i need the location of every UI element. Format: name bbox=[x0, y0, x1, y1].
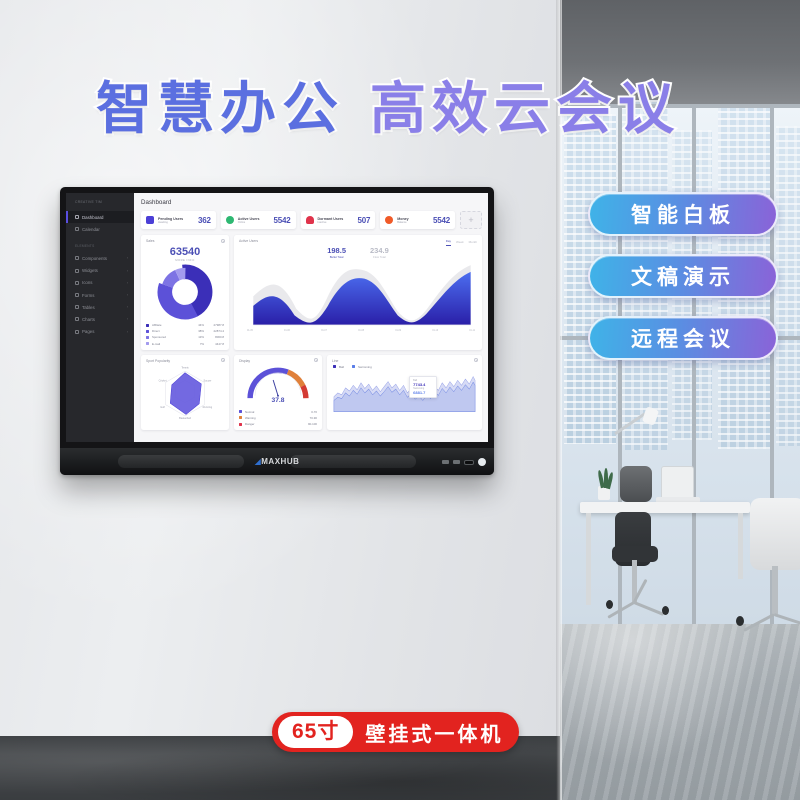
desk-leg bbox=[738, 513, 743, 579]
feature-pill-whiteboard[interactable]: 智能白板 bbox=[588, 192, 778, 236]
tab-month[interactable]: Month bbox=[469, 240, 477, 246]
range-tabs: Day Week Month bbox=[446, 239, 477, 246]
sales-donut-card: Sales 63540 MORE INFO bbox=[141, 235, 229, 350]
leaf-icon bbox=[226, 216, 234, 224]
legend-swatch bbox=[146, 336, 149, 339]
legend-label: Normal bbox=[245, 410, 297, 414]
chevron-right-icon: › bbox=[127, 256, 128, 260]
legend-label: E-mail bbox=[152, 342, 192, 346]
chevron-right-icon: › bbox=[127, 281, 128, 285]
sidebar-item-label: Tables bbox=[82, 305, 95, 310]
radar-axis-label: Soccer bbox=[203, 379, 211, 382]
radar-chart: Tennis Soccer Running Basketball Golf Cr… bbox=[146, 363, 224, 419]
radar-axis-label: Tennis bbox=[181, 366, 189, 369]
chevron-right-icon: › bbox=[127, 305, 128, 309]
legend-range: 70-90 bbox=[297, 416, 317, 420]
legend-percent: 44% bbox=[192, 323, 204, 327]
stat-card-active-users[interactable]: Active Users Online 5542 bbox=[221, 211, 296, 229]
stat-sublabel: Online bbox=[238, 221, 274, 224]
page-icon bbox=[75, 330, 79, 334]
stat-value: 5542 bbox=[274, 216, 291, 225]
laptop-lid bbox=[661, 466, 694, 499]
tooltip-value: 6881.7 bbox=[413, 390, 433, 395]
chevron-right-icon: › bbox=[127, 330, 128, 334]
legend-amount: 22874.4 bbox=[204, 329, 224, 333]
sidebar-item-label: Charts bbox=[82, 317, 95, 322]
table-icon bbox=[75, 305, 79, 309]
sidebar-item-widgets[interactable]: Widgets › bbox=[66, 265, 134, 277]
widget-icon bbox=[75, 269, 79, 273]
bullet-total: 198.5 Bullet Total bbox=[327, 247, 346, 259]
sidebar-item-pages[interactable]: Pages › bbox=[66, 326, 134, 338]
legend-item-swimming: Swimming bbox=[352, 365, 372, 369]
legend-label: Affiliate bbox=[152, 323, 192, 327]
add-card-button[interactable]: + bbox=[460, 211, 482, 229]
legend-label: Direct bbox=[152, 329, 192, 333]
legend-percent: 38% bbox=[192, 329, 204, 333]
stat-value: 507 bbox=[358, 216, 371, 225]
sidebar-item-label: Dashboard bbox=[82, 215, 103, 220]
donut-chart-svg bbox=[157, 264, 213, 320]
sales-more-info-label: MORE INFO bbox=[146, 258, 224, 262]
legend-amount: 4447.8 bbox=[204, 342, 224, 346]
card-title: Sales bbox=[146, 239, 224, 243]
interactive-display-device: CREATIVE TIM Dashboard Calendar ELEMENTS… bbox=[60, 187, 494, 475]
legend-swatch bbox=[239, 416, 242, 419]
sales-total-value: 63540 bbox=[146, 246, 224, 258]
chair-back-far bbox=[620, 466, 652, 502]
feature-pill-label: 文稿演示 bbox=[631, 261, 735, 291]
total-value: 198.5 bbox=[327, 247, 346, 255]
x-tick: 01-08 bbox=[358, 330, 364, 332]
x-tick: 01-10 bbox=[432, 330, 438, 332]
tab-day[interactable]: Day bbox=[446, 239, 451, 246]
legend-swatch bbox=[146, 342, 149, 345]
sidebar-item-components[interactable]: Components › bbox=[66, 252, 134, 264]
legend-row: E-mail 7% 4447.8 bbox=[146, 342, 224, 346]
legend-swatch bbox=[239, 410, 242, 413]
gear-icon[interactable] bbox=[221, 358, 225, 362]
sport-popularity-card: Sport Popularity Tennis Soccer Running B… bbox=[141, 355, 229, 431]
legend-swatch bbox=[146, 330, 149, 333]
active-users-area-card: Active Users Day Week Month 198.5 Bullet… bbox=[234, 235, 482, 350]
x-tick: 01-11 bbox=[469, 330, 475, 332]
chair-back-white bbox=[750, 498, 800, 570]
sidebar-item-label: Forms bbox=[82, 293, 94, 298]
chevron-right-icon: › bbox=[127, 317, 128, 321]
gauge-card: Display 37.8 No bbox=[234, 355, 322, 431]
legend-row: Direct 38% 22874.4 bbox=[146, 329, 224, 333]
sidebar-item-tables[interactable]: Tables › bbox=[66, 301, 134, 313]
users-icon bbox=[146, 216, 154, 224]
star-icon bbox=[75, 281, 79, 285]
dashboard-sidebar: CREATIVE TIM Dashboard Calendar ELEMENTS… bbox=[66, 193, 134, 442]
x-tick: 01-07 bbox=[321, 330, 327, 332]
heart-icon bbox=[306, 216, 314, 224]
radar-axis-label: Running bbox=[203, 405, 213, 408]
calendar-icon bbox=[75, 227, 79, 231]
legend-range: 0-70 bbox=[297, 410, 317, 414]
sidebar-logo: CREATIVE TIM bbox=[66, 200, 134, 211]
gauge-chart: 37.8 bbox=[239, 363, 317, 403]
gear-icon[interactable] bbox=[314, 358, 318, 362]
sidebar-item-icons[interactable]: Icons › bbox=[66, 277, 134, 289]
legend-swatch bbox=[239, 423, 242, 426]
speaker-grille-right bbox=[290, 455, 416, 468]
legend-swatch bbox=[352, 365, 355, 368]
sidebar-item-label: Icons bbox=[82, 280, 93, 285]
speaker-grille-left bbox=[118, 455, 244, 468]
legend-row: Sponsored 13% 8060.8 bbox=[146, 335, 224, 339]
legend-label: Warning bbox=[245, 416, 297, 420]
legend-percent: 13% bbox=[192, 335, 204, 339]
x-tick: 01-05 bbox=[247, 330, 253, 332]
form-icon bbox=[75, 293, 79, 297]
sidebar-item-charts[interactable]: Charts › bbox=[66, 313, 134, 325]
chair-post-white bbox=[772, 566, 778, 614]
stat-value: 362 bbox=[198, 216, 211, 225]
feature-pill-label: 远程会议 bbox=[631, 323, 735, 353]
x-tick: 01-09 bbox=[395, 330, 401, 332]
dashboard-content: Dashboard Pending Users Awaiting 362 bbox=[134, 193, 488, 442]
sidebar-item-label: Widgets bbox=[82, 268, 98, 273]
legend-row: Danger 90-100 bbox=[239, 422, 317, 426]
badge-size-label: 65寸 bbox=[278, 716, 353, 747]
headline-part-2: 高效云会议 bbox=[370, 77, 680, 140]
chevron-right-icon: › bbox=[127, 293, 128, 297]
device-brand-logo: ◢MAXHUB bbox=[255, 457, 300, 466]
grid-icon bbox=[75, 256, 79, 260]
home-icon bbox=[75, 215, 79, 219]
radar-axis-label: Cricket bbox=[159, 379, 167, 382]
area-x-axis: 01-05 01-06 01-07 01-08 01-09 01-10 01-1… bbox=[239, 329, 477, 332]
chart-row-bottom: Sport Popularity Tennis Soccer Running B… bbox=[141, 355, 482, 431]
card-title: Active Users bbox=[239, 239, 258, 243]
sidebar-item-label: Components bbox=[82, 256, 107, 261]
gear-icon[interactable] bbox=[474, 358, 478, 362]
office-floor bbox=[560, 624, 800, 800]
line-area-chart bbox=[332, 369, 477, 413]
desk-leg bbox=[586, 513, 591, 605]
chair-caster bbox=[606, 600, 613, 609]
tab-week[interactable]: Week bbox=[456, 240, 464, 246]
legend-row: Affiliate 44% 27987.8 bbox=[146, 323, 224, 327]
device-controls bbox=[442, 458, 486, 466]
legend-swatch bbox=[146, 324, 149, 327]
coin-icon bbox=[385, 216, 393, 224]
chair-caster bbox=[662, 606, 669, 615]
device-bottom-bezel: ◢MAXHUB bbox=[60, 448, 494, 475]
headline-part-1: 智慧办公 bbox=[96, 77, 344, 140]
legend-amount: 8060.8 bbox=[204, 335, 224, 339]
legend-row: Normal 0-70 bbox=[239, 410, 317, 414]
screen: CREATIVE TIM Dashboard Calendar ELEMENTS… bbox=[66, 193, 488, 442]
totals-row: 198.5 Bullet Total 234.9 Flow Total bbox=[239, 247, 477, 259]
legend-percent: 7% bbox=[192, 342, 204, 346]
x-tick: 01-06 bbox=[284, 330, 290, 332]
line-chart-card: Line Ball Swimming bbox=[327, 355, 482, 431]
stat-value: 5542 bbox=[433, 216, 450, 225]
legend-label: Danger bbox=[245, 422, 297, 426]
sidebar-item-label: Calendar bbox=[82, 227, 100, 232]
desk-top bbox=[580, 502, 750, 513]
sidebar-item-dashboard[interactable]: Dashboard bbox=[66, 211, 134, 223]
chart-icon bbox=[75, 317, 79, 321]
product-spec-badge: 65寸 壁挂式一体机 bbox=[272, 712, 519, 752]
feature-pill-label: 智能白板 bbox=[631, 199, 735, 229]
power-button[interactable] bbox=[478, 458, 486, 466]
radar-axis-label: Basketball bbox=[179, 417, 191, 419]
gear-icon[interactable] bbox=[221, 239, 225, 243]
poster-scene: 智慧办公高效云会议 智能白板 文稿演示 远程会议 65寸 壁挂式一体机 CREA… bbox=[0, 0, 800, 800]
feature-pill-remote-meeting[interactable]: 远程会议 bbox=[588, 316, 778, 360]
donut-chart bbox=[146, 264, 224, 320]
stat-card-money[interactable]: Money Balance 5542 bbox=[380, 211, 455, 229]
sidebar-item-calendar[interactable]: Calendar bbox=[66, 223, 134, 235]
stat-card-row: Pending Users Awaiting 362 Active Users … bbox=[141, 211, 482, 229]
page-title: Dashboard bbox=[141, 199, 482, 206]
sidebar-section-label: ELEMENTS bbox=[66, 235, 134, 252]
legend-range: 90-100 bbox=[297, 422, 317, 426]
chair-caster bbox=[736, 616, 744, 626]
stat-card-pending-users[interactable]: Pending Users Awaiting 362 bbox=[141, 211, 216, 229]
flow-total: 234.9 Flow Total bbox=[370, 247, 389, 259]
stat-sublabel: Balance bbox=[397, 221, 433, 224]
stat-sublabel: Awaiting bbox=[158, 221, 198, 224]
total-value: 234.9 bbox=[370, 247, 389, 255]
legend-item-ball: Ball bbox=[333, 365, 344, 369]
radar-axis-label: Golf bbox=[160, 405, 165, 408]
legend-swatch bbox=[333, 365, 336, 368]
chevron-right-icon: › bbox=[127, 269, 128, 273]
legend-label: Ball bbox=[339, 365, 344, 369]
page-headline: 智慧办公高效云会议 bbox=[96, 64, 716, 145]
legend-label: Swimming bbox=[358, 365, 372, 369]
stat-card-dormant-users[interactable]: Dormant Users Inactive 507 bbox=[301, 211, 376, 229]
sidebar-item-label: Pages bbox=[82, 329, 94, 334]
legend-label: Sponsored bbox=[152, 335, 192, 339]
stat-sublabel: Inactive bbox=[318, 221, 358, 224]
chart-row-top: Sales 63540 MORE INFO bbox=[141, 235, 482, 350]
total-label: Flow Total bbox=[370, 255, 389, 259]
legend-row: Warning 70-90 bbox=[239, 416, 317, 420]
sidebar-item-forms[interactable]: Forms › bbox=[66, 289, 134, 301]
active-users-area-chart bbox=[239, 261, 477, 329]
total-label: Bullet Total bbox=[327, 255, 346, 259]
card-title: Line bbox=[332, 359, 477, 363]
feature-pill-list: 智能白板 文稿演示 远程会议 bbox=[588, 192, 778, 378]
legend-amount: 27987.8 bbox=[204, 323, 224, 327]
function-key-1[interactable] bbox=[442, 460, 449, 464]
function-key-2[interactable] bbox=[453, 460, 460, 464]
feature-pill-presentation[interactable]: 文稿演示 bbox=[588, 254, 778, 298]
badge-type-label: 壁挂式一体机 bbox=[365, 718, 503, 747]
usb-port-icon bbox=[464, 460, 474, 465]
gauge-value: 37.8 bbox=[272, 396, 285, 402]
chart-tooltip: Ball 7743.4 Swimming 6881.7 bbox=[409, 376, 437, 398]
